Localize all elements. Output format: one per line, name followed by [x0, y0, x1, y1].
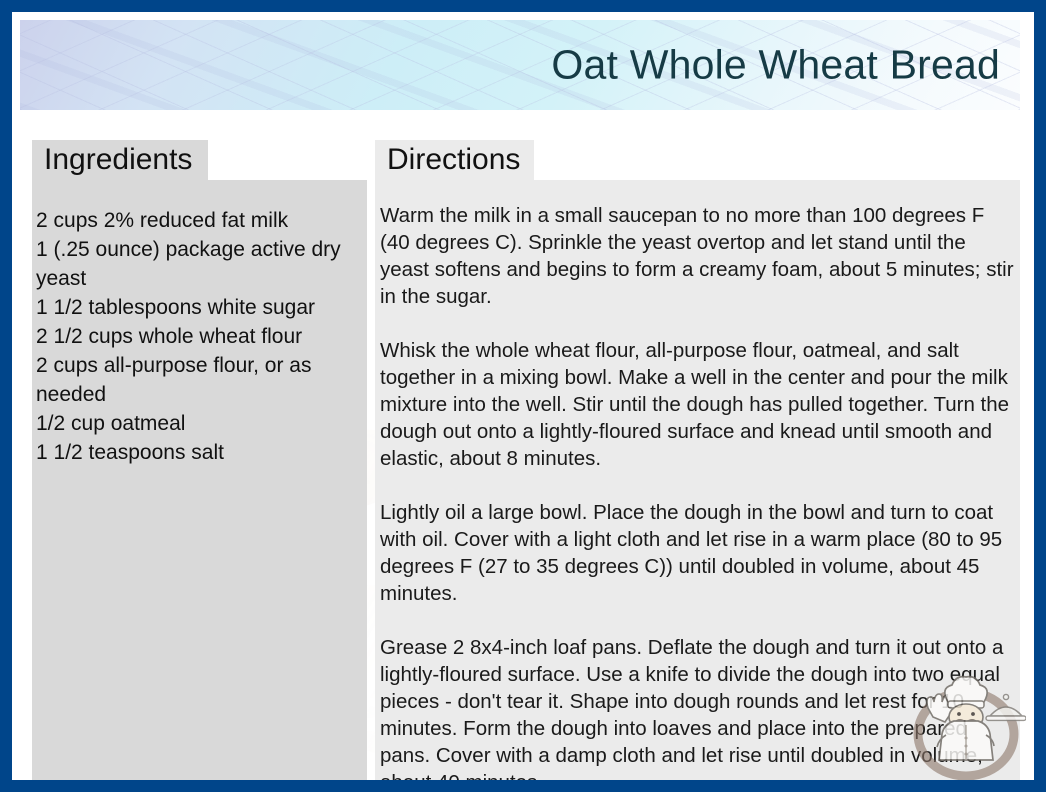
direction-step: Lightly oil a large bowl. Place the doug… — [380, 499, 1014, 607]
page-title: Oat Whole Wheat Bread — [551, 43, 1000, 86]
direction-step: Grease 2 8x4-inch loaf pans. Deflate the… — [380, 634, 1014, 780]
list-item: 1 (.25 ounce) package active dry yeast — [36, 235, 353, 293]
card-inner: Oat Whole Wheat Bread — [12, 12, 1034, 780]
title-banner: Oat Whole Wheat Bread — [20, 20, 1020, 110]
directions-heading: Directions — [375, 140, 534, 182]
list-item: 1 1/2 teaspoons salt — [36, 438, 353, 467]
ingredients-panel: 2 cups 2% reduced fat milk 1 (.25 ounce)… — [32, 180, 367, 780]
ingredients-heading: Ingredients — [32, 140, 208, 182]
direction-step: Warm the milk in a small saucepan to no … — [380, 202, 1014, 310]
list-item: 2 1/2 cups whole wheat flour — [36, 322, 353, 351]
list-item: 1 1/2 tablespoons white sugar — [36, 293, 353, 322]
direction-step: Whisk the whole wheat flour, all-purpose… — [380, 337, 1014, 472]
list-item: 2 cups 2% reduced fat milk — [36, 206, 353, 235]
recipe-card: Oat Whole Wheat Bread — [0, 0, 1046, 792]
list-item: 2 cups all-purpose flour, or as needed — [36, 351, 353, 409]
directions-panel: Warm the milk in a small saucepan to no … — [375, 180, 1020, 780]
ingredients-list: 2 cups 2% reduced fat milk 1 (.25 ounce)… — [36, 206, 353, 467]
list-item: 1/2 cup oatmeal — [36, 409, 353, 438]
